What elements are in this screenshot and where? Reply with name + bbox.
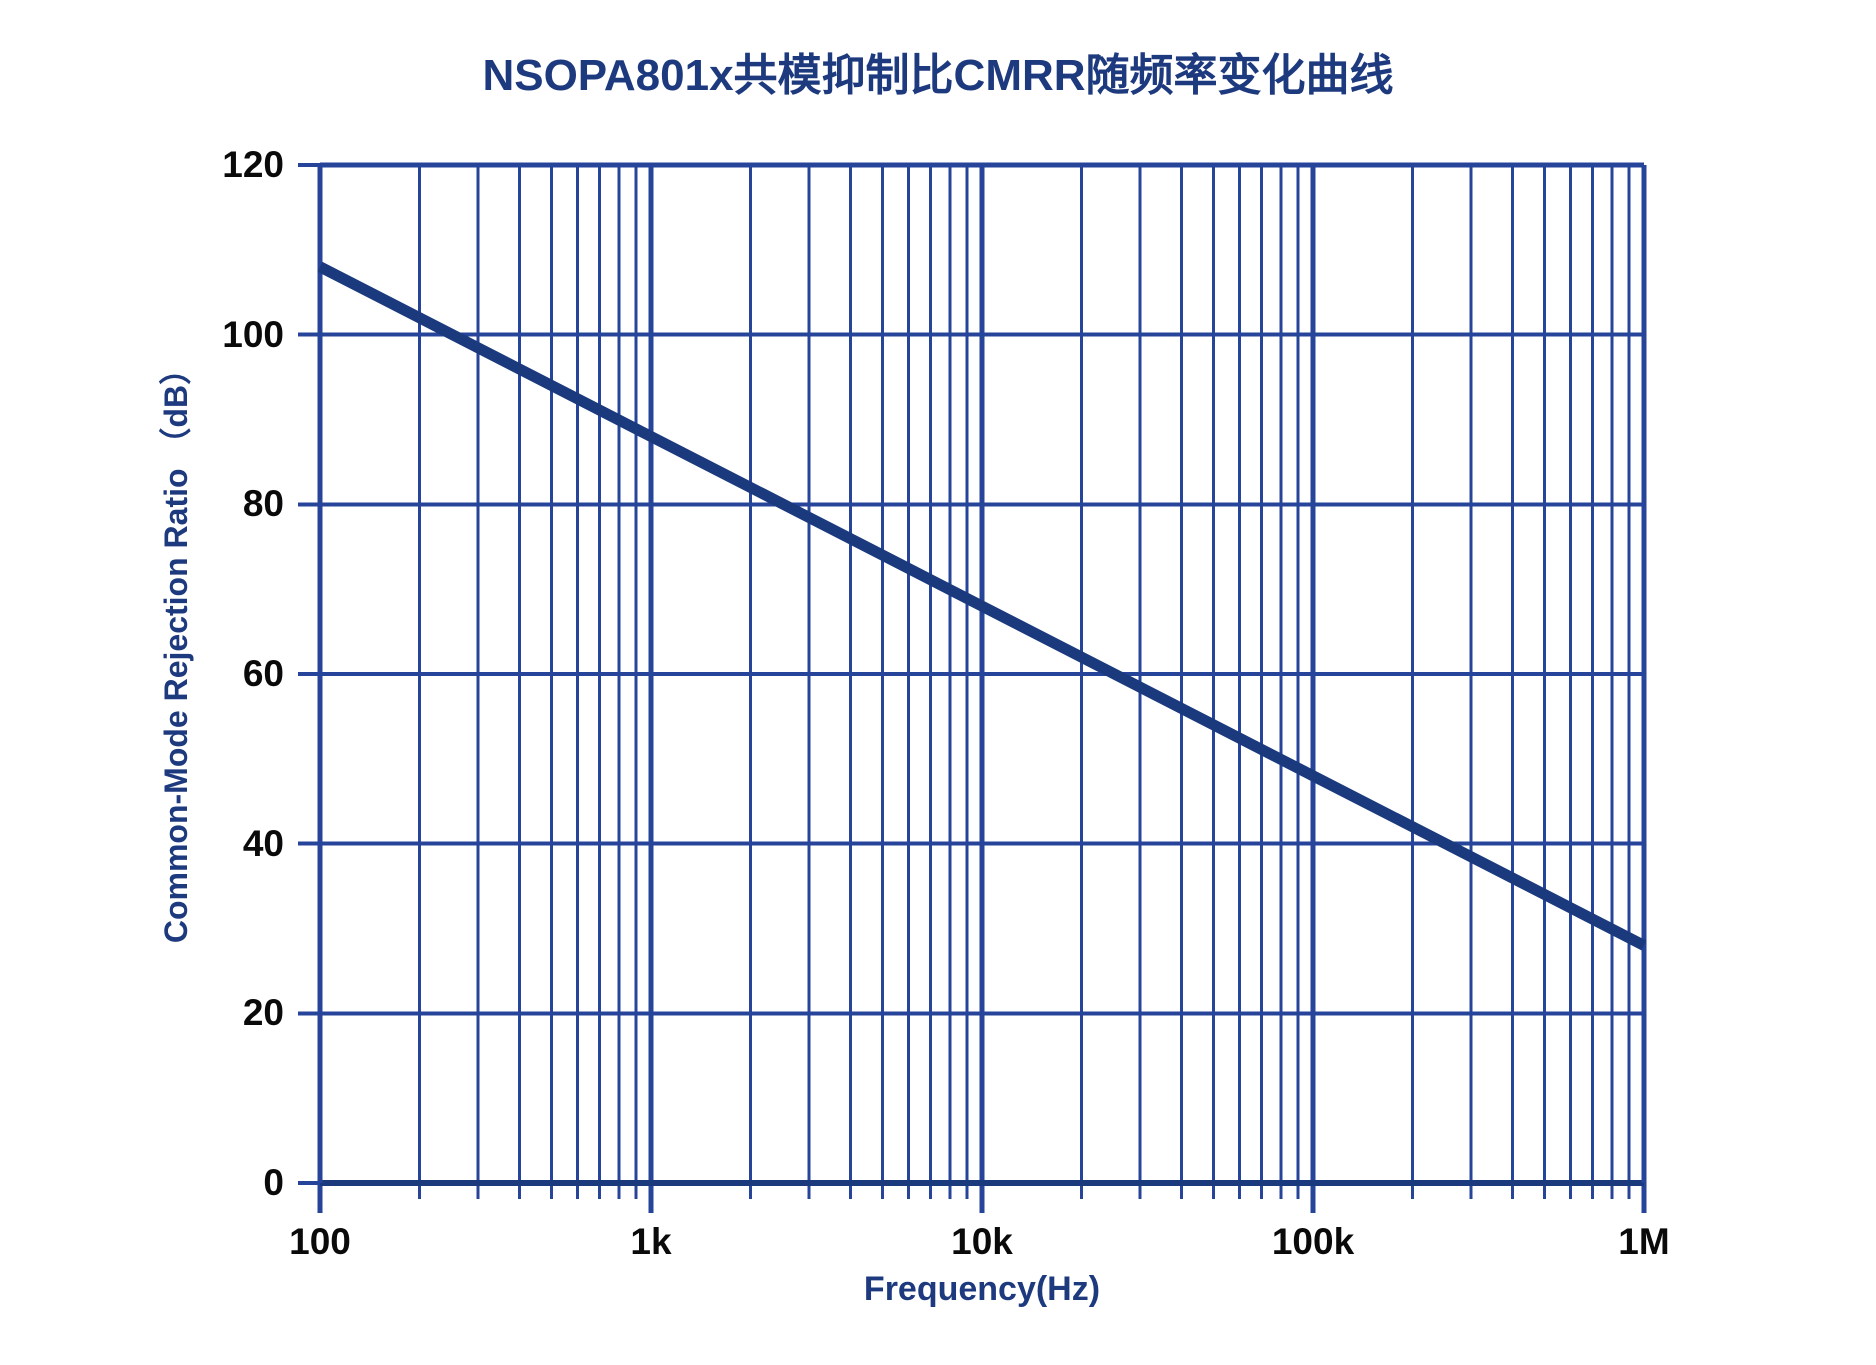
- y-tick-label: 20: [174, 994, 284, 1031]
- x-tick-label: 1M: [1544, 1223, 1744, 1260]
- y-tick-label: 60: [174, 655, 284, 692]
- chart-figure: NSOPA801x共模抑制比CMRR随频率变化曲线 Common-Mode Re…: [0, 0, 1876, 1365]
- y-tick-label: 40: [174, 825, 284, 862]
- x-tick-label: 1k: [551, 1223, 751, 1260]
- y-tick-label: 100: [174, 316, 284, 353]
- axis-ticks-group: [298, 165, 1644, 1213]
- x-tick-label: 100k: [1213, 1223, 1413, 1260]
- y-tick-label: 0: [174, 1164, 284, 1201]
- x-tick-label: 10k: [882, 1223, 1082, 1260]
- gridlines-group: [320, 165, 1644, 1183]
- y-tick-label: 120: [174, 146, 284, 183]
- x-axis-title: Frequency(Hz): [320, 1270, 1644, 1309]
- x-tick-label: 100: [220, 1223, 420, 1260]
- y-tick-label: 80: [174, 485, 284, 522]
